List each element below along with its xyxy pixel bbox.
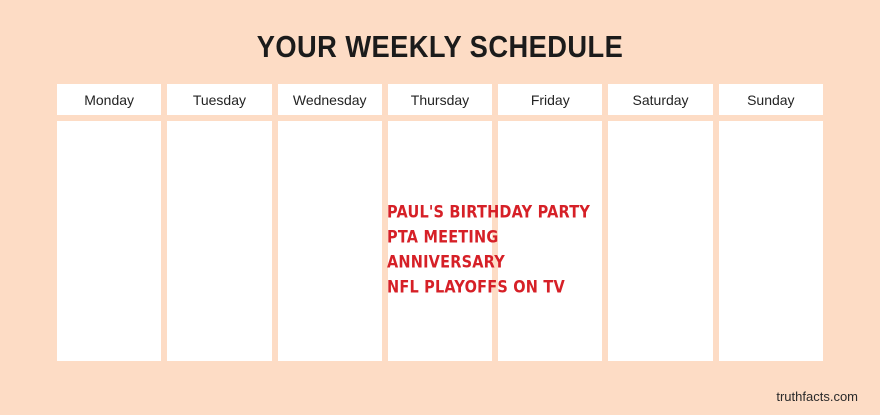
day-cell-wednesday: [278, 121, 382, 361]
day-header-label: Tuesday: [193, 93, 246, 107]
day-header-wednesday: Wednesday: [278, 84, 382, 115]
day-header-label: Wednesday: [293, 93, 367, 107]
day-cell-sunday: [719, 121, 823, 361]
day-header-saturday: Saturday: [608, 84, 712, 115]
day-header-tuesday: Tuesday: [167, 84, 271, 115]
day-header-friday: Friday: [498, 84, 602, 115]
day-cell-saturday: [608, 121, 712, 361]
day-cell-thursday: [388, 121, 492, 361]
day-header-sunday: Sunday: [719, 84, 823, 115]
day-header-label: Sunday: [747, 93, 794, 107]
weekly-calendar: Monday Tuesday Wednesday Thursday Friday…: [57, 84, 823, 361]
day-header-label: Saturday: [633, 93, 689, 107]
calendar-body-row: [57, 121, 823, 361]
comic-panel: YOUR WEEKLY SCHEDULE Monday Tuesday Wedn…: [0, 0, 880, 415]
calendar-header-row: Monday Tuesday Wednesday Thursday Friday…: [57, 84, 823, 115]
day-cell-friday: [498, 121, 602, 361]
day-header-thursday: Thursday: [388, 84, 492, 115]
day-cell-monday: [57, 121, 161, 361]
day-header-label: Monday: [84, 93, 134, 107]
day-header-label: Thursday: [411, 93, 469, 107]
source-credit: truthfacts.com: [776, 390, 858, 403]
day-header-label: Friday: [531, 93, 570, 107]
day-header-monday: Monday: [57, 84, 161, 115]
day-cell-tuesday: [167, 121, 271, 361]
page-title: YOUR WEEKLY SCHEDULE: [53, 31, 827, 62]
